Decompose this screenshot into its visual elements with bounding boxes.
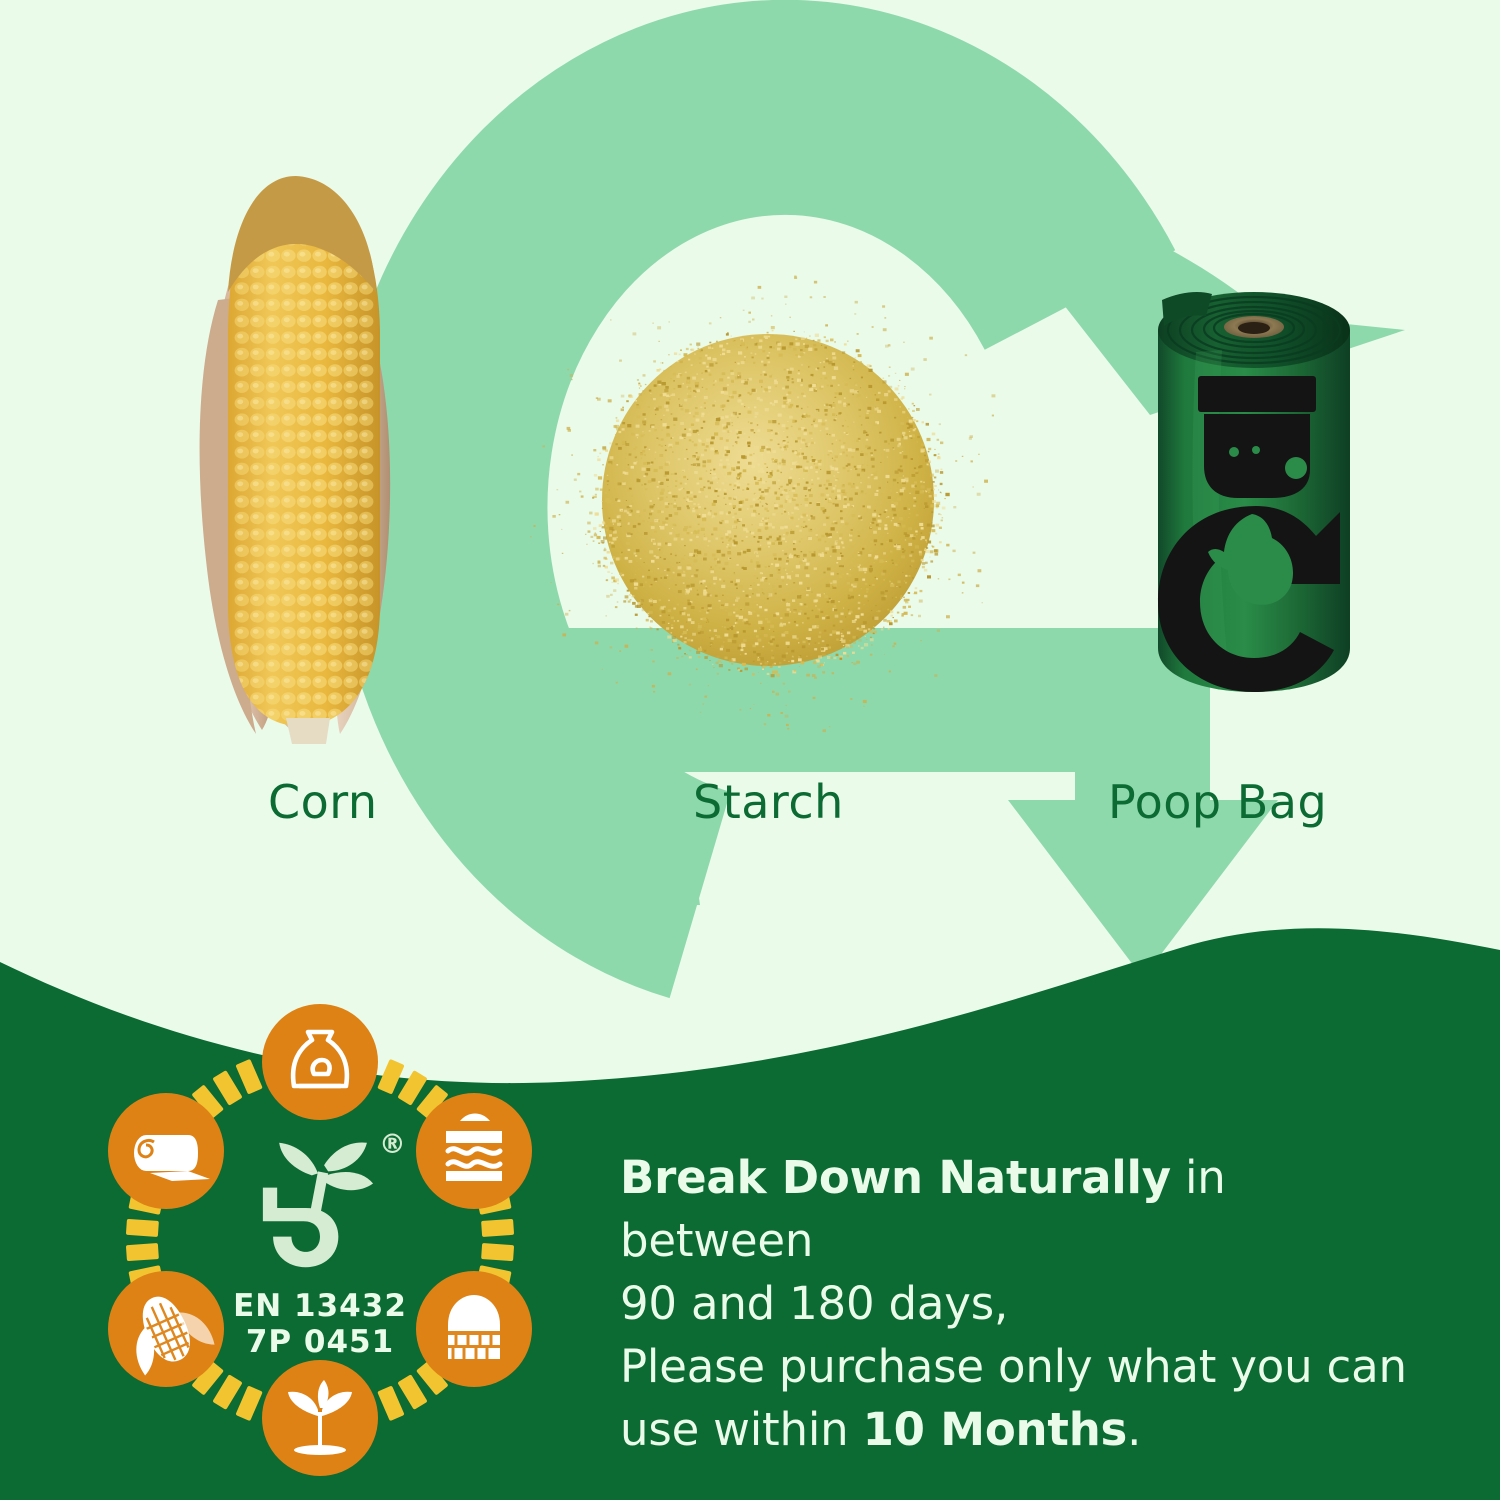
compost-soil-icon	[416, 1271, 532, 1387]
promo-line1-bold: Break Down Naturally	[620, 1151, 1171, 1204]
product-infographic: Corn Starch Poop Bag	[0, 0, 1500, 1500]
compost-bag-icon	[262, 1004, 378, 1120]
seedling-compostable-logo: ®	[263, 1129, 406, 1267]
promo-line4-post: .	[1127, 1403, 1141, 1456]
cert-standard-line2: 7P 0451	[246, 1324, 394, 1360]
cert-standard-line1: EN 13432	[233, 1288, 407, 1324]
promo-line3: Please purchase only what you can	[620, 1340, 1407, 1393]
corn-cob-icon	[108, 1271, 224, 1387]
promo-line4: use within 10 Months.	[620, 1403, 1141, 1456]
promo-line1: Break Down Naturally in between	[620, 1151, 1226, 1267]
promo-line4-pre: use within	[620, 1403, 863, 1456]
registered-mark: ®	[379, 1129, 406, 1160]
sprout-plant-icon	[262, 1360, 378, 1476]
film-roll-icon	[108, 1093, 224, 1209]
promo-line4-bold: 10 Months	[863, 1403, 1128, 1456]
promo-message: Break Down Naturally in between 90 and 1…	[620, 1146, 1420, 1461]
water-layers-icon	[416, 1093, 532, 1209]
promo-line2: 90 and 180 days,	[620, 1277, 1008, 1330]
